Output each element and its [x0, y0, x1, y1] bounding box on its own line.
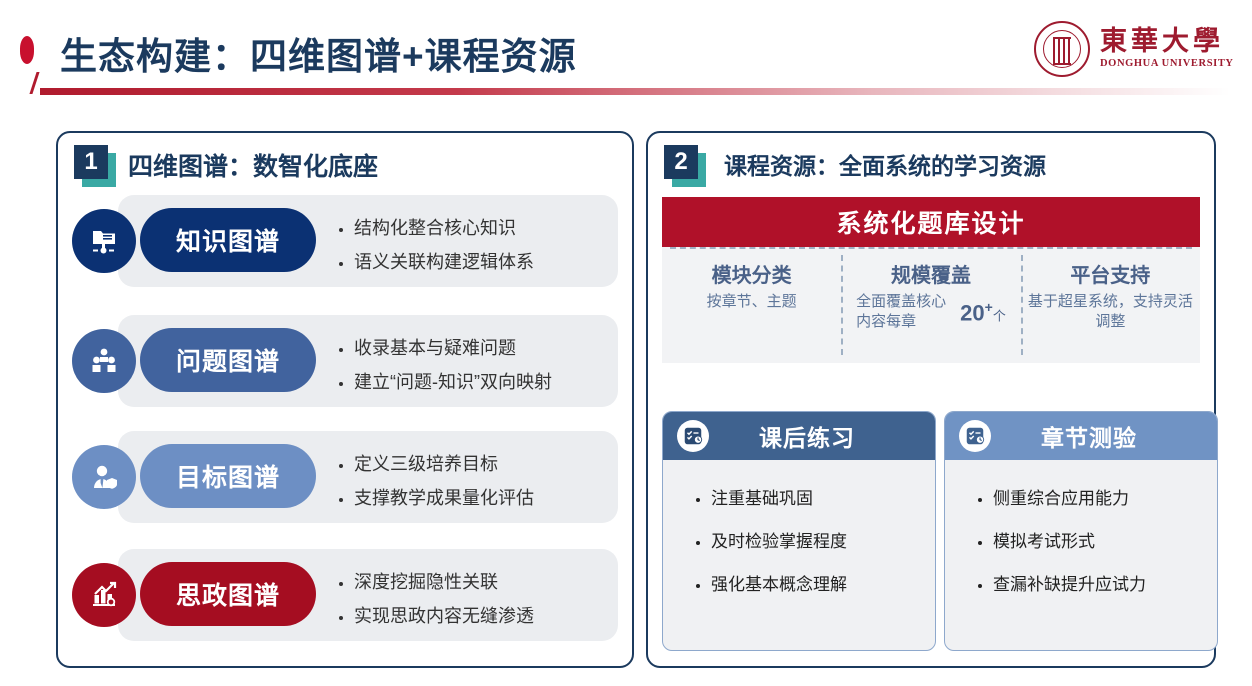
graph-row-knowledge[interactable]: 知识图谱 结构化整合核心知识 语义关联构建逻辑体系: [72, 195, 618, 287]
logo-name-cn: 東華大學: [1100, 28, 1234, 55]
stat-number-unit: 个: [993, 308, 1006, 323]
stat-scale-coverage: 规模覆盖 全面覆盖核心内容每章 20+个: [841, 247, 1020, 363]
stat-number: 20+个: [960, 299, 1006, 326]
graph-bullets-knowledge: 结构化整合核心知识 语义关联构建逻辑体系: [334, 211, 624, 279]
bullet-item: 实现思政内容无缝渗透: [354, 599, 624, 633]
panel-left-badge: 1: [74, 145, 112, 183]
checklist-clock-icon: [959, 420, 991, 452]
stat-subtext: 全面覆盖核心内容每章: [856, 292, 952, 333]
panel-right-badge: 2: [664, 145, 702, 183]
badge-number: 2: [664, 145, 698, 179]
bullet-item: 强化基本概念理解: [711, 576, 935, 593]
stat-subtext: 基于超星系统，支持灵活调整: [1027, 292, 1194, 333]
card-chapter-quiz[interactable]: 章节测验 侧重综合应用能力 模拟考试形式 查漏补缺提升应试力: [944, 411, 1218, 651]
panel-right-header: 2 课程资源：全面系统的学习资源: [648, 133, 1214, 189]
person-badge-icon: [72, 445, 136, 509]
logo-name-en: DONGHUA UNIVERSITY: [1100, 59, 1234, 70]
graph-row-goal[interactable]: 目标图谱 定义三级培养目标 支撑教学成果量化评估: [72, 431, 618, 523]
stat-value-row: 基于超星系统，支持灵活调整: [1027, 292, 1194, 333]
bullet-item: 收录基本与疑难问题: [354, 331, 624, 365]
graph-pill-problem[interactable]: 问题图谱: [140, 328, 316, 392]
university-logo: 東華大學 DONGHUA UNIVERSITY: [1034, 18, 1234, 80]
stat-module-classification: 模块分类 按章节、主题: [662, 247, 841, 363]
panel-left-header: 1 四维图谱：数智化底座: [58, 133, 632, 189]
stat-value-row: 全面覆盖核心内容每章 20+个: [847, 292, 1014, 333]
graph-pill-ideology[interactable]: 思政图谱: [140, 562, 316, 626]
bullet-item: 模拟考试形式: [993, 533, 1217, 550]
bullet-item: 及时检验掌握程度: [711, 533, 935, 550]
card-title: 章节测验: [1003, 419, 1217, 453]
stat-platform-support: 平台支持 基于超星系统，支持灵活调整: [1021, 247, 1200, 363]
stat-subtext: 按章节、主题: [707, 292, 797, 312]
checklist-clock-icon: [677, 420, 709, 452]
bullet-item: 建立“问题-知识”双向映射: [354, 365, 624, 399]
title-bullet-icon: [20, 36, 34, 64]
panel-course-resources: 2 课程资源：全面系统的学习资源 系统化题库设计 模块分类 按章节、主题 规模覆…: [646, 131, 1216, 668]
graph-row-problem[interactable]: 问题图谱 收录基本与疑难问题 建立“问题-知识”双向映射: [72, 315, 618, 407]
bullet-item: 支撑教学成果量化评估: [354, 481, 624, 515]
card-title: 课后练习: [721, 419, 935, 453]
card-header: 章节测验: [945, 412, 1217, 460]
stat-number-value: 20: [960, 300, 984, 325]
university-seal-icon: [1034, 21, 1090, 77]
slide-header: 生态构建：四维图谱+课程资源 東華大學 DONGHUA UNIVERSITY: [0, 0, 1252, 104]
graph-pill-goal[interactable]: 目标图谱: [140, 444, 316, 508]
graph-pill-knowledge[interactable]: 知识图谱: [140, 208, 316, 272]
bullet-item: 注重基础巩固: [711, 490, 935, 507]
graph-bullets-goal: 定义三级培养目标 支撑教学成果量化评估: [334, 447, 624, 515]
question-bank-stats: 模块分类 按章节、主题 规模覆盖 全面覆盖核心内容每章 20+个 平台支持 基于…: [662, 247, 1200, 363]
question-bank-band: 系统化题库设计: [662, 197, 1200, 247]
bullet-item: 语义关联构建逻辑体系: [354, 245, 624, 279]
graph-bullets-ideology: 深度挖掘隐性关联 实现思政内容无缝渗透: [334, 565, 624, 633]
badge-number: 1: [74, 145, 108, 179]
panel-right-title: 课程资源：全面系统的学习资源: [724, 147, 1046, 181]
card-after-class-practice[interactable]: 课后练习 注重基础巩固 及时检验掌握程度 强化基本概念理解: [662, 411, 936, 651]
page-title: 生态构建：四维图谱+课程资源: [60, 26, 577, 80]
title-underline: [40, 88, 1230, 95]
bullet-item: 结构化整合核心知识: [354, 211, 624, 245]
bullet-item: 深度挖掘隐性关联: [354, 565, 624, 599]
bullet-item: 定义三级培养目标: [354, 447, 624, 481]
stat-value-row: 按章节、主题: [668, 292, 835, 312]
panel-left-title: 四维图谱：数智化底座: [128, 147, 378, 183]
bullet-item: 查漏补缺提升应试力: [993, 576, 1217, 593]
stat-title: 规模覆盖: [847, 259, 1014, 288]
stat-title: 平台支持: [1027, 259, 1194, 288]
growth-chart-icon: [72, 563, 136, 627]
graph-bullets-problem: 收录基本与疑难问题 建立“问题-知识”双向映射: [334, 331, 624, 399]
people-group-icon: [72, 329, 136, 393]
card-body: 侧重综合应用能力 模拟考试形式 查漏补缺提升应试力: [945, 460, 1217, 593]
card-header: 课后练习: [663, 412, 935, 460]
bullet-item: 侧重综合应用能力: [993, 490, 1217, 507]
graph-row-ideology[interactable]: 思政图谱 深度挖掘隐性关联 实现思政内容无缝渗透: [72, 549, 618, 641]
stat-title: 模块分类: [668, 259, 835, 288]
card-body: 注重基础巩固 及时检验掌握程度 强化基本概念理解: [663, 460, 935, 593]
folder-network-icon: [72, 209, 136, 273]
stat-number-sup: +: [985, 299, 993, 315]
panel-four-dimension-graph: 1 四维图谱：数智化底座 知识图谱 结构化整合核心知识 语义关联构建逻辑体系: [56, 131, 634, 668]
logo-text: 東華大學 DONGHUA UNIVERSITY: [1100, 28, 1234, 70]
